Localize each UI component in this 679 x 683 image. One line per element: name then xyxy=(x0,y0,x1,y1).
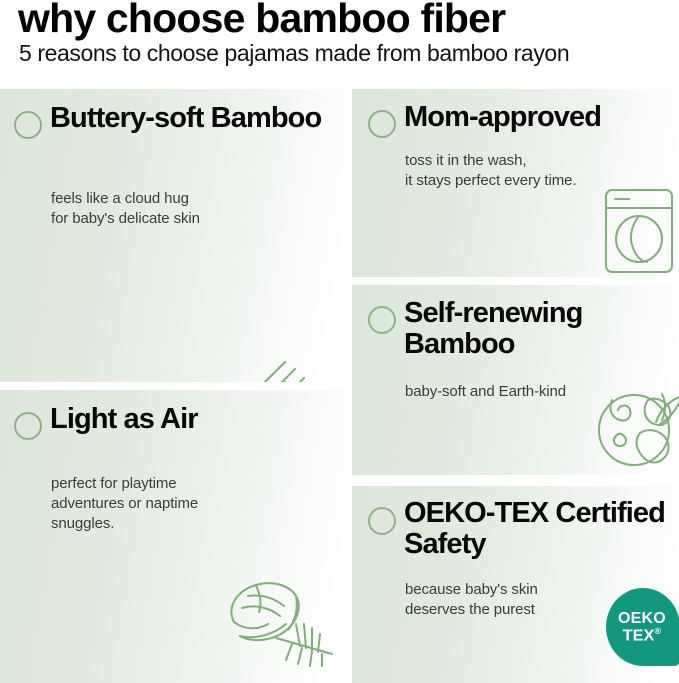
card-body: toss it in the wash, it stays perfect ev… xyxy=(405,151,576,191)
card-body: baby-soft and Earth-kind xyxy=(405,382,566,402)
hand-palm-icon xyxy=(223,347,344,382)
circle-outline-icon xyxy=(368,507,396,535)
benefit-card-mom-approved: Mom-approved toss it in the wash, it sta… xyxy=(352,89,679,277)
registered-mark: ® xyxy=(654,626,661,636)
card-title: OEKO-TEX Certified Safety xyxy=(404,498,679,561)
card-title: Self-renewing Bamboo xyxy=(404,298,679,361)
infographic-page: why choose bamboo fiber 5 reasons to cho… xyxy=(0,0,679,683)
badge-line2-text: TEX xyxy=(623,627,655,644)
oeko-tex-badge-icon: OEKO TEX® xyxy=(606,588,679,666)
card-title: Buttery-soft Bamboo xyxy=(50,103,321,134)
benefit-card-buttery-soft-bamboo: Buttery-soft Bamboo feels like a cloud h… xyxy=(0,89,344,382)
feather-icon xyxy=(212,568,344,678)
page-title: why choose bamboo fiber xyxy=(18,0,505,40)
circle-outline-icon xyxy=(368,306,396,334)
header: why choose bamboo fiber 5 reasons to cho… xyxy=(0,0,679,85)
card-title: Light as Air xyxy=(50,404,198,435)
benefit-card-light-as-air: Light as Air perfect for playtime advent… xyxy=(0,390,344,683)
badge-text: OEKO TEX® xyxy=(606,588,679,666)
page-subtitle: 5 reasons to choose pajamas made from ba… xyxy=(19,41,569,66)
badge-line1: OEKO xyxy=(618,610,666,627)
benefit-card-oeko-tex-certified-safety: OEKO-TEX Certified Safety because baby's… xyxy=(352,486,679,683)
card-body: feels like a cloud hug for baby's delica… xyxy=(51,189,200,229)
card-body: because baby's skin deserves the purest xyxy=(405,580,538,620)
benefit-card-self-renewing-bamboo: Self-renewing Bamboo baby-soft and Earth… xyxy=(352,285,679,475)
circle-outline-icon xyxy=(14,412,42,440)
globe-leaf-icon xyxy=(590,378,679,473)
badge-line2: TEX® xyxy=(623,627,662,645)
washing-machine-icon xyxy=(595,184,679,277)
circle-outline-icon xyxy=(14,111,42,139)
card-body: perfect for playtime adventures or napti… xyxy=(51,474,198,534)
card-title: Mom-approved xyxy=(404,102,601,133)
circle-outline-icon xyxy=(368,110,396,138)
